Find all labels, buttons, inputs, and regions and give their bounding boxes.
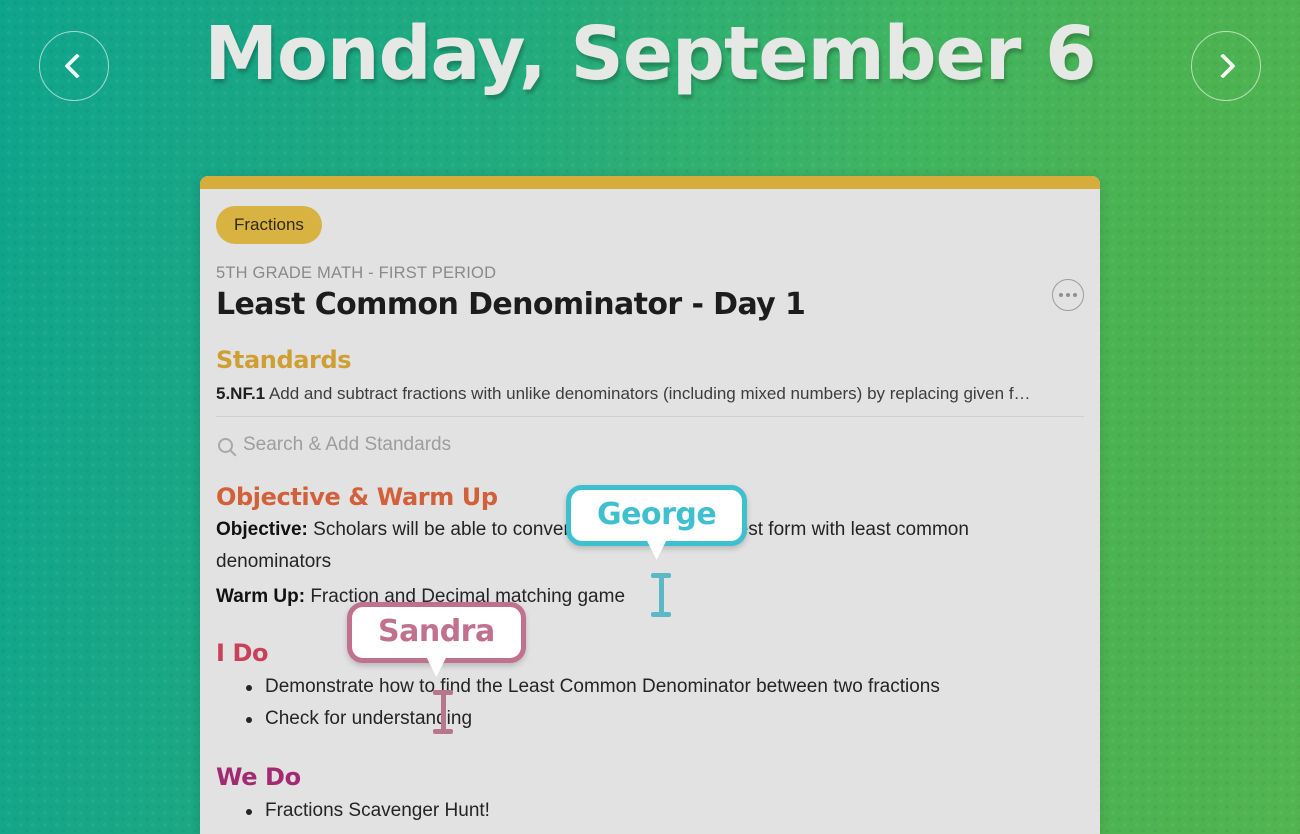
collaborator-name-badge: Sandra [347,602,526,663]
dot-icon [1073,293,1077,297]
wedo-list: Fractions Scavenger Hunt! Find 6 example… [246,795,1084,834]
subject-tag[interactable]: Fractions [216,206,322,244]
lesson-card: Fractions 5TH GRADE MATH - FIRST PERIOD … [200,176,1100,834]
next-day-button[interactable] [1191,31,1261,101]
chevron-right-icon [1210,53,1235,78]
warmup-label: Warm Up: [216,586,305,607]
caret-serif [433,729,453,734]
standard-row[interactable]: 5.NF.1 Add and subtract fractions with u… [216,384,1084,404]
card-accent-bar [200,176,1100,189]
list-item[interactable]: Fractions Scavenger Hunt! [246,795,1084,827]
standard-code: 5.NF.1 [216,384,265,403]
caret-stem [659,577,664,613]
dot-icon [1066,293,1070,297]
objective-label: Objective: [216,519,308,540]
collaborator-cursor-sandra: Sandra [347,602,526,663]
list-item[interactable]: Demonstrate how to find the Least Common… [246,671,1084,703]
more-options-button[interactable] [1052,279,1084,311]
lesson-title[interactable]: Least Common Denominator - Day 1 [216,287,1084,322]
text-caret-icon [433,690,453,734]
text-caret-icon [651,573,671,617]
standard-text: Add and subtract fractions with unlike d… [269,384,1031,403]
search-placeholder: Search & Add Standards [243,434,451,456]
section-heading-standards: Standards [216,346,1084,374]
collaborator-cursor-george: George [566,485,747,546]
dot-icon [1059,293,1063,297]
search-icon [218,438,233,453]
card-body: Fractions 5TH GRADE MATH - FIRST PERIOD … [200,189,1100,834]
collaborator-name-badge: George [566,485,747,546]
page-title: Monday, September 6 [0,8,1300,101]
section-heading-wedo: We Do [216,763,1084,791]
list-item[interactable]: Check for understanding [246,703,1084,735]
search-standards-input[interactable]: Search & Add Standards [216,417,1084,456]
date-header: Monday, September 6 [0,0,1300,132]
class-period-label: 5TH GRADE MATH - FIRST PERIOD [216,264,1084,283]
caret-serif [651,612,671,617]
caret-stem [441,694,446,730]
ido-list: Demonstrate how to find the Least Common… [246,671,1084,736]
